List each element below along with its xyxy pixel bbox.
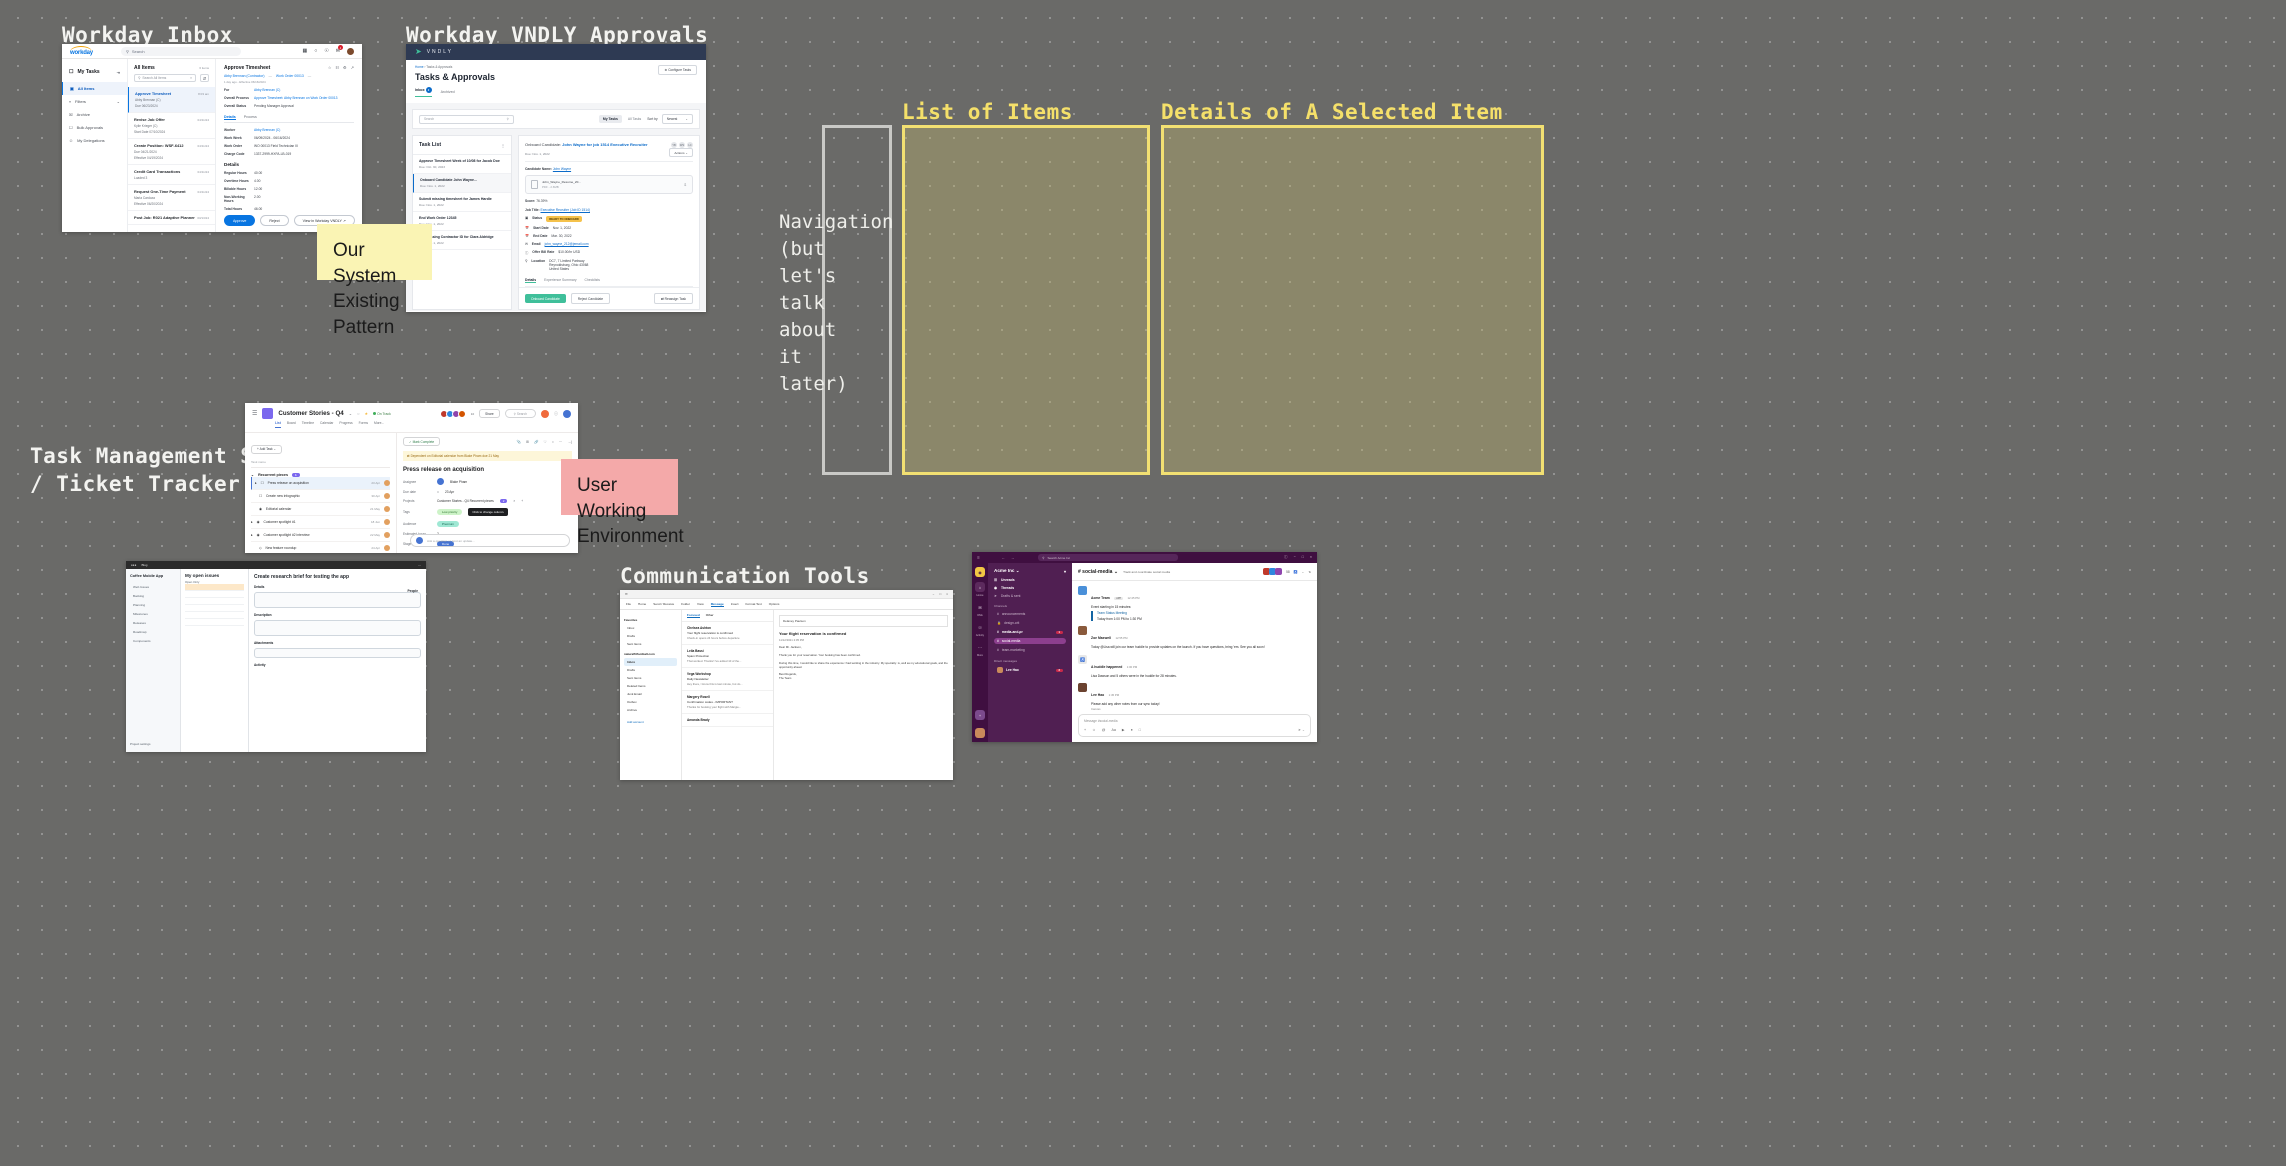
outlook-reading-pane: Delaney Paulson Your flight reservation … (774, 610, 953, 780)
folder-sent-items[interactable]: Sent Items (624, 674, 677, 682)
issue-tracker-sidebar[interactable]: Coffee Mobile App Web Issues Backlog Pla… (126, 569, 181, 752)
link-icon[interactable]: 🔗 (534, 440, 538, 444)
back-icon[interactable]: ← (1002, 556, 1005, 560)
channel-team-marketing[interactable]: #team-marketing (994, 647, 1066, 653)
scope-all-tasks[interactable]: All Tasks (628, 117, 641, 121)
more-options-icon[interactable]: ⋮ (501, 143, 505, 148)
onboard-candidate-button[interactable]: Onboard Candidate (525, 294, 566, 303)
tab-calendar[interactable]: Calendar (320, 421, 333, 428)
message-time: 12:55 PM (1115, 636, 1127, 640)
slack-rail[interactable]: ◉ ⌂ Home ✉ DMs ☉ Activity ⋯ More + (972, 563, 988, 742)
attachments-box (254, 648, 421, 658)
task-row[interactable]: ▸☐Press release on acquisition23 Apr (251, 477, 390, 490)
screenshot-workday-vndly[interactable]: ➤ VNDLY Home › Tasks & Approvals Tasks &… (406, 44, 706, 312)
reading-date: 11/12/2021 2:05 PM (779, 638, 948, 642)
message-subject: Spam Protection (687, 654, 768, 658)
sort-by-select[interactable]: Newest⌄ (662, 114, 693, 124)
collapse-icon[interactable]: →| (567, 440, 572, 444)
sidebar-item-unreads[interactable]: ☰Unreads (994, 578, 1066, 582)
add-task-button[interactable]: + Add Task ⌄ (251, 445, 282, 454)
list-item[interactable]: Credit Card Transactions04/11/24 Loaded … (128, 165, 215, 185)
star-icon[interactable]: ☆ (328, 65, 332, 70)
detail-field-key: Overall Status (224, 104, 254, 108)
folder-archive[interactable]: Archive (624, 706, 677, 714)
list-item-title: Post Job: R021 Adaptive Planner (134, 215, 195, 220)
share-button[interactable]: Share (479, 409, 500, 418)
notifications-icon[interactable]: ☉ (324, 48, 328, 54)
hours-value: 40.00 (254, 171, 262, 175)
tab-process[interactable]: Process (244, 115, 257, 120)
channel-name[interactable]: # social-media ⌄ (1078, 569, 1118, 575)
sort-button[interactable]: ⇵ (200, 74, 209, 82)
calendar-icon: 📅 (525, 226, 529, 230)
summary-value[interactable]: Abby Brennan (C) (254, 128, 280, 132)
sidebar-item-releases[interactable]: Releases (130, 618, 176, 627)
list-search-input[interactable]: ⚲ Search All Items × (134, 74, 196, 82)
list-item-line2: Start Date 07/10/2024 (134, 130, 209, 134)
avatar[interactable] (563, 410, 571, 418)
subtab-checklists[interactable]: Checklists (585, 278, 600, 283)
subtask-add-icon[interactable]: ⊞ (526, 440, 529, 444)
approve-button[interactable]: Approve (224, 215, 255, 226)
sidebar-item-web-issues[interactable]: Web Issues (130, 582, 176, 591)
message: Acme Team APP 12:45 PM Event starting in… (1078, 586, 1311, 621)
clear-icon[interactable]: × (190, 76, 192, 80)
channel-media-and-pr[interactable]: #media-and-pr1 (994, 629, 1066, 635)
message-preview: Hey there, I know this is last minute, b… (687, 682, 768, 686)
expand-icon[interactable]: ▸ (251, 520, 253, 524)
asana-task-list[interactable]: + Add Task ⌄ Task name ⌄Recurrent pieces… (245, 433, 397, 553)
detail-chip-worker[interactable]: Abby Brennan (Contractor) (224, 74, 265, 78)
menu-icon[interactable]: ☰ (977, 556, 980, 560)
project-icon (262, 408, 273, 419)
tab-timeline[interactable]: Timeline (302, 421, 314, 428)
outlook-folder-nav[interactable]: Favorites Inbox Drafts Sent Items natura… (620, 610, 682, 780)
apps-icon[interactable]: ▦ (303, 48, 308, 54)
vndly-task-list[interactable]: Task List ⋮ Approve Timesheet Week of 10… (412, 135, 512, 310)
inbox-icon[interactable]: ✉1 (336, 48, 340, 54)
screenshot-task-management[interactable]: ☰ Customer Stories - Q4 ⌄ ○ ★ On Track 1… (245, 403, 578, 553)
task-row[interactable]: ▸◉Customer spotlight #118 Jun (251, 516, 390, 529)
tab-archived[interactable]: Archived (441, 90, 455, 94)
forward-icon[interactable]: → (1011, 556, 1014, 560)
detail-sub-tabs[interactable]: Details Experience Summary Checklists (525, 278, 693, 287)
workday-item-list[interactable]: All Items 6 items ⚲ Search All Items × ⇵… (128, 59, 216, 232)
breadcrumb: Home › Tasks & Approvals (415, 65, 697, 69)
channel-announcements[interactable]: #announcements (994, 611, 1066, 617)
summary-key: Work Week (224, 136, 254, 140)
list-item[interactable]: Post Job: R021 Adaptive Planner03/13/24 (128, 211, 215, 225)
favorite-drafts[interactable]: Drafts (624, 632, 677, 640)
browser-menu-icon[interactable]: ⋯ (418, 563, 421, 567)
detail-title-link[interactable]: John Wayne for job 1514 Executive Recrui… (562, 142, 647, 147)
list-item-time: 04/11/24 (198, 190, 209, 194)
task-title: Approve Timesheet Week of 10/08 for Jaco… (419, 159, 505, 163)
message-item[interactable]: Vega WorkshopDaily NewsletterHey there, … (682, 668, 773, 691)
plus-icon[interactable]: + (1084, 728, 1086, 732)
issue-row[interactable] (185, 591, 244, 598)
tab-progress[interactable]: Progress (339, 421, 352, 428)
tag-chip[interactable]: Low priority (437, 509, 462, 515)
subtab-details[interactable]: Details (525, 278, 536, 283)
download-icon[interactable]: ⇩ (684, 182, 687, 187)
menu-icon[interactable]: ☰ (252, 410, 257, 417)
text-format-icon[interactable]: Aa (1111, 728, 1115, 732)
check-icon[interactable]: ◉ (257, 533, 260, 537)
person-icon: ☺ (69, 138, 73, 143)
add-icon[interactable]: + (521, 499, 523, 503)
compose-toolbar[interactable]: + ☺ @ Aa ▶ ● □ ➤ ⌄ (1084, 728, 1305, 732)
list-search-row: ⚲ Search All Items × ⇵ (134, 74, 209, 82)
history-icon[interactable]: ○ (314, 48, 317, 54)
close-icon[interactable]: × (946, 592, 948, 596)
vndly-topbar: ➤ VNDLY (406, 44, 706, 60)
issue-row[interactable] (185, 598, 244, 605)
avatar[interactable] (384, 532, 390, 538)
tab-details[interactable]: Details (224, 115, 236, 120)
favorite-sent[interactable]: Sent Items (624, 640, 677, 648)
summary-value: 1337-2999-HXFA-LB-019 (254, 152, 291, 156)
bell-icon[interactable]: ☉ (975, 622, 985, 632)
dm-lee-hao[interactable]: Lee Hao2 (994, 666, 1066, 674)
check-icon[interactable]: ◉ (259, 507, 262, 511)
channel-design-crit[interactable]: 🔒design-crit (994, 620, 1066, 626)
event-title[interactable]: Team Status Meeting (1097, 611, 1142, 615)
sidebar-item-bulk-approvals[interactable]: ☐Bulk Approvals (62, 121, 127, 134)
folder-drafts[interactable]: Drafts (624, 666, 677, 674)
clock-icon[interactable]: ○ (552, 440, 554, 444)
email-row: ✉Emailjohn_wayne_212@jemail.com (525, 242, 693, 246)
channel-topic[interactable]: Track and coordinate social media (1123, 570, 1170, 574)
description-box (254, 620, 421, 636)
folder-junk-email[interactable]: Junk Email (624, 690, 677, 698)
ribbon-tab-insert[interactable]: Insert (731, 602, 739, 606)
detail-field-value[interactable]: Abby Brennan (C) (254, 88, 280, 92)
sidebar-item-filters[interactable]: ▿Filters⌄ (62, 95, 127, 108)
lock-icon: 🔒 (997, 621, 1001, 625)
asana-view-tabs[interactable]: List Board Timeline Calendar Progress Fo… (245, 419, 578, 428)
collapse-icon[interactable]: ⇥ (117, 70, 120, 75)
mic-icon[interactable]: ● (1131, 728, 1133, 732)
avatar[interactable] (1078, 586, 1087, 595)
canvas-icon[interactable]: □ (1139, 728, 1141, 732)
maximize-icon[interactable]: □ (939, 592, 941, 596)
outlook-message-list[interactable]: Focused Other Chelsea AshtonYour flight … (682, 610, 774, 780)
emoji-icon[interactable]: ☺ (1092, 728, 1096, 732)
avatar[interactable] (1078, 626, 1087, 635)
group-badge: 1 (292, 473, 300, 477)
outlook-ribbon[interactable]: File Home Send / Receive Folder View Mes… (620, 599, 953, 610)
detail-tabs[interactable]: Details Process (224, 115, 354, 123)
sidebar-item-my-delegations[interactable]: ☺My Delegations (62, 134, 127, 147)
tab-list[interactable]: List (275, 421, 281, 428)
actions-dropdown[interactable]: Actions ⌄ (669, 148, 693, 157)
browser-chrome: ●●● Blog ⋯ (126, 561, 426, 569)
list-item-title: Approve Timesheet (135, 91, 171, 96)
avatar[interactable] (347, 48, 354, 55)
detail-field-value[interactable]: Approve Timesheet: Abby Brennan on Work … (254, 96, 338, 100)
clock-icon[interactable]: ○ (357, 411, 359, 416)
folder-outbox[interactable]: Outbox (624, 698, 677, 706)
list-item[interactable]: Approve Timesheet8:03 am Abby Brennan (C… (128, 87, 215, 113)
ribbon-tab-format-text[interactable]: Format Text (746, 602, 762, 606)
add-icon[interactable] (541, 410, 549, 418)
rail-label-dms: DMs (977, 614, 982, 617)
threads-icon: ◉ (994, 586, 997, 590)
chevron-down-icon[interactable]: ⌄ (1302, 570, 1305, 574)
like-icon[interactable]: ♡ (543, 440, 546, 444)
task-row[interactable]: ◇New feature roundup24 Apr (251, 542, 390, 553)
message-author[interactable]: Lee Hao (1091, 693, 1104, 697)
hash-icon: # (997, 639, 999, 643)
check-icon[interactable]: ◉ (257, 520, 260, 524)
breadcrumb-home[interactable]: Home (415, 65, 424, 69)
row-label: Email (532, 242, 541, 246)
tab-other[interactable]: Other (706, 613, 714, 618)
sidebar-item-label: Archive (77, 112, 90, 117)
more-icon[interactable]: ⋯ (559, 440, 563, 444)
sidebar-item-backlog[interactable]: Backlog (130, 591, 176, 600)
help-icon[interactable]: ⓘ (554, 411, 558, 417)
workspace-switcher[interactable]: Acme Inc ⌄ ▾ (994, 568, 1066, 574)
summary-value: WO 00013 Field Technician III (254, 144, 298, 148)
member-count: 58 (1286, 570, 1290, 574)
avatar (416, 537, 423, 544)
workspace-icon[interactable]: ◉ (975, 567, 985, 577)
video-icon[interactable]: ▶ (1122, 728, 1125, 732)
ribbon-tab-message[interactable]: Message (711, 602, 724, 607)
avatar[interactable] (384, 506, 390, 512)
sidebar-item-label: My Delegations (77, 138, 105, 143)
vndly-detail-footer: Onboard Candidate Reject Candidate ⇄ Rea… (519, 287, 699, 309)
screenshot-issue-tracker[interactable]: ●●● Blog ⋯ Coffee Mobile App Web Issues … (126, 561, 426, 752)
channel-social-media[interactable]: #social-media (994, 638, 1066, 644)
comment-input[interactable]: Ask a question or post an update... (410, 534, 570, 547)
task-list-item[interactable]: Approve Timesheet Week of 10/08 for Jaco… (413, 155, 511, 174)
sidebar-item-drafts[interactable]: ➤Drafts & sent (994, 594, 1066, 598)
file-icon (531, 180, 538, 189)
sidebar-item-archive[interactable]: ☒Archive (62, 108, 127, 121)
task-due: Due: Nov. 1, 2022 (419, 203, 505, 207)
add-account-link[interactable]: Add account (624, 718, 677, 726)
row-value: Mar. 30, 2022 (551, 234, 571, 238)
account-label: naturalfitfootball.com (624, 652, 677, 656)
help-icon[interactable]: ⓘ (1284, 555, 1288, 560)
status-badge: READY TO ONBOARD (546, 216, 582, 222)
issue-row[interactable] (185, 619, 244, 626)
task-title: Customer spotlight #1 (264, 520, 296, 524)
compose-to-field[interactable]: Delaney Paulson (779, 615, 948, 627)
favorite-inbox[interactable]: Inbox (624, 624, 677, 632)
task-row[interactable]: ☐Create new infographic30 Apr (251, 490, 390, 503)
minimize-icon[interactable]: − (933, 592, 935, 596)
ribbon-tab-send-receive[interactable]: Send / Receive (653, 602, 674, 606)
message-item[interactable]: Leila BassiSpam ProtectionThat worked. T… (682, 645, 773, 668)
list-item-title: Request One-Time Payment (134, 189, 186, 194)
configure-tasks-button[interactable]: ⚙ Configure Tasks (658, 65, 697, 75)
job-title-link[interactable]: Executive Recruiter (Job ID 1514) (541, 208, 590, 212)
screenshot-workday-inbox[interactable]: workday ⚲ Search ▦ ○ ☉ ✉1 ☐ My Tasks ⇥ ▣… (62, 44, 362, 232)
folder-deleted-items[interactable]: Deleted Items (624, 682, 677, 690)
issue-list[interactable]: My open issues Open Only (181, 569, 249, 752)
screenshot-slack[interactable]: ☰ ← → ⚲ Search Acme Inc ⓘ − □ × ◉ ⌂ Home… (972, 552, 1317, 742)
slack-sidebar[interactable]: Acme Inc ⌄ ▾ ☰Unreads ◉Threads ➤Drafts &… (988, 563, 1072, 742)
sidebar-item-label: All Items (78, 86, 95, 91)
task-list-item[interactable]: Onboard Candidate John Wayne...Due: Nov.… (413, 174, 511, 193)
ribbon-tab-view[interactable]: View (697, 602, 704, 606)
sidebar-title-label: My Tasks (77, 69, 99, 75)
slack-message-pane: # social-media ⌄ Track and coordinate so… (1072, 563, 1317, 742)
avatar[interactable] (975, 728, 985, 738)
subtab-experience-summary[interactable]: Experience Summary (544, 278, 576, 283)
project-status[interactable]: On Track (373, 412, 391, 416)
task-date: 30 Apr (371, 494, 380, 498)
workday-search-input[interactable]: ⚲ Search (121, 47, 241, 56)
detail-field-due-date: Due date□23 Apr (403, 490, 572, 494)
screenshot-email-client[interactable]: ✉ −□× File Home Send / Receive Folder Vi… (620, 590, 953, 780)
expand-icon[interactable]: ▸ (251, 533, 253, 537)
archive-icon: ☒ (69, 112, 73, 117)
mail-icon: ✉ (525, 242, 528, 246)
window-controls[interactable]: ⓘ − □ × (1284, 555, 1312, 560)
frame-list-of-items (902, 125, 1150, 475)
asana-search-input[interactable]: ⚲ Search (505, 409, 536, 418)
message-item[interactable]: Margery RosellConfirmation codes - IMPOR… (682, 691, 773, 714)
issue-row[interactable] (185, 605, 244, 612)
subtask-icon: ☐ (261, 481, 264, 485)
member-avatars[interactable] (1263, 568, 1282, 575)
star-icon[interactable]: ★ (365, 411, 369, 416)
message-item[interactable]: Amanda Brady (682, 714, 773, 727)
task-date: 18 Jun (371, 520, 380, 524)
audience-chip[interactable]: Premium (437, 521, 459, 527)
message-text: Lisa Dawson and 5 others were in the hud… (1091, 674, 1177, 678)
minimize-icon[interactable]: − (1294, 555, 1296, 560)
task-row[interactable]: ▸◉Customer spotlight #2 interview22 May (251, 529, 390, 542)
chevron-down-icon: ⌄ (1016, 568, 1020, 573)
reassign-task-button[interactable]: ⇄ Reassign Task (654, 293, 693, 304)
issue-row[interactable] (185, 612, 244, 619)
tab-focused[interactable]: Focused (687, 613, 700, 618)
issue-row[interactable] (185, 584, 244, 591)
reject-button[interactable]: Reject (260, 215, 288, 226)
member-avatars[interactable] (442, 410, 466, 418)
dm-icon[interactable]: ✉ (975, 602, 985, 612)
file-meta: PDF - 2.6MB (542, 185, 581, 189)
vndly-tabs[interactable]: Inbox 1 Archived (415, 87, 697, 97)
message-list-tabs[interactable]: Focused Other (682, 610, 773, 622)
sidebar-item-roadmap[interactable]: Roadmap (130, 627, 176, 636)
email-link[interactable]: john_wayne_212@jemail.com (545, 242, 589, 246)
list-item-line2: Due 06/23/2024 (135, 104, 209, 108)
list-item[interactable]: Create Position: WSF-641204/11/24 Due 04… (128, 139, 215, 165)
workday-detail-panel: Approve Timesheet ☆ ☷ ⚙ ↗ Abby Brennan (… (216, 59, 362, 232)
expand-icon[interactable]: ↗ (351, 65, 354, 70)
rail-label-more: More (977, 654, 983, 657)
list-item-line1: Loaded 3 (134, 176, 209, 180)
tab-forms[interactable]: Forms (359, 421, 368, 428)
home-icon[interactable]: ⌂ (975, 582, 985, 592)
ribbon-tab-folder[interactable]: Folder (681, 602, 690, 606)
slack-compose-box[interactable]: Message #social-media + ☺ @ Aa ▶ ● □ ➤ ⌄ (1078, 714, 1311, 737)
issue-list-title: My open issues (185, 573, 244, 578)
ribbon-tab-file[interactable]: File (626, 602, 631, 606)
issue-detail-panel: Create research brief for testing the ap… (249, 569, 426, 752)
expand-icon[interactable]: ▸ (255, 481, 257, 485)
slack-search-input[interactable]: ⚲ Search Acme Inc (1038, 554, 1178, 561)
ribbon-tab-home[interactable]: Home (638, 602, 646, 606)
attach-icon[interactable]: 📎 (516, 440, 520, 444)
more-icon[interactable]: ⋯ (975, 642, 985, 652)
detail-chip-workorder[interactable]: Work Order 00013 (276, 74, 304, 78)
remove-icon[interactable]: × (513, 499, 515, 503)
headphones-icon[interactable]: ♿ (1294, 570, 1298, 574)
sort-by-control[interactable]: Sort by Newest⌄ (647, 114, 693, 124)
gear-icon[interactable]: ⚙ (343, 65, 347, 70)
list-item[interactable]: Request One-Time Payment04/11/24 Maria C… (128, 185, 215, 211)
project-settings-link[interactable]: Project settings (130, 742, 151, 746)
window-controls[interactable]: −□× (933, 592, 948, 596)
reject-candidate-button[interactable]: Reject Candidate (571, 293, 610, 304)
close-icon[interactable]: × (1310, 555, 1312, 560)
huddle-icon[interactable]: ⇅ (1308, 570, 1311, 574)
scope-my-tasks[interactable]: My Tasks (599, 115, 622, 123)
filter-icon[interactable]: ▾ (1064, 569, 1066, 574)
resume-attachment[interactable]: John_Wayne_Resume_20... PDF - 2.6MB ⇩ (525, 175, 693, 194)
add-icon[interactable]: + (975, 710, 985, 720)
avatar[interactable] (384, 480, 390, 486)
avatar[interactable] (384, 519, 390, 525)
avatar[interactable] (384, 493, 390, 499)
message-author[interactable]: Zoe Maxwell (1091, 636, 1111, 640)
ribbon-tab-options[interactable]: Options (769, 602, 780, 606)
avatar[interactable] (437, 478, 444, 485)
workday-search-placeholder: Search (132, 49, 145, 54)
browser-tab-label[interactable]: Blog (141, 563, 147, 567)
tab-more[interactable]: More... (374, 421, 384, 428)
sidebar-item-planning[interactable]: Planning (130, 600, 176, 609)
task-list-item[interactable]: Submit missing timesheet for James Hardi… (413, 193, 511, 212)
sidebar-item-components[interactable]: Components (130, 636, 176, 645)
row-value: $10.00/hr USD (558, 250, 580, 254)
task-row[interactable]: ◉Editorial calendar21 May (251, 503, 390, 516)
message-item[interactable]: Chelsea AshtonYour flight reservation is… (682, 622, 773, 645)
task-scope-toggle[interactable]: My Tasks All Tasks (599, 115, 641, 123)
folder-inbox[interactable]: Inbox (624, 658, 677, 666)
sidebar-item-threads[interactable]: ◉Threads (994, 586, 1066, 590)
maximize-icon[interactable]: □ (1302, 555, 1304, 560)
tab-board[interactable]: Board (287, 421, 296, 428)
sidebar-item-milestones[interactable]: Milestones (130, 609, 176, 618)
mark-complete-button[interactable]: ✓ Mark Complete (403, 437, 440, 446)
window-dots-icon: ●●● (131, 563, 136, 567)
sidebar-item-all-items[interactable]: ▣All Items (62, 82, 127, 95)
mention-icon[interactable]: @ (1102, 728, 1106, 732)
send-icon[interactable]: ➤ ⌄ (1298, 728, 1305, 732)
score-value: 76.39% (536, 199, 547, 203)
sticky-note-user-environment: User Working Environment (561, 459, 678, 515)
note-icon[interactable]: ☷ (335, 65, 339, 70)
chevron-down-icon[interactable]: ⌄ (349, 411, 352, 416)
candidate-name-link[interactable]: John Wayne (553, 167, 571, 171)
status-row: ▣StatusREADY TO ONBOARD (525, 216, 693, 222)
vndly-search-input[interactable]: Search ⚲ (419, 115, 514, 124)
list-item[interactable]: Revise Job Offer04/11/24 Kylie Krieger (… (128, 113, 215, 139)
avatar[interactable] (384, 545, 390, 551)
tab-inbox[interactable]: Inbox 1 (415, 87, 432, 97)
message-author[interactable]: Acme Team (1091, 596, 1110, 600)
avatar[interactable] (1078, 683, 1087, 692)
